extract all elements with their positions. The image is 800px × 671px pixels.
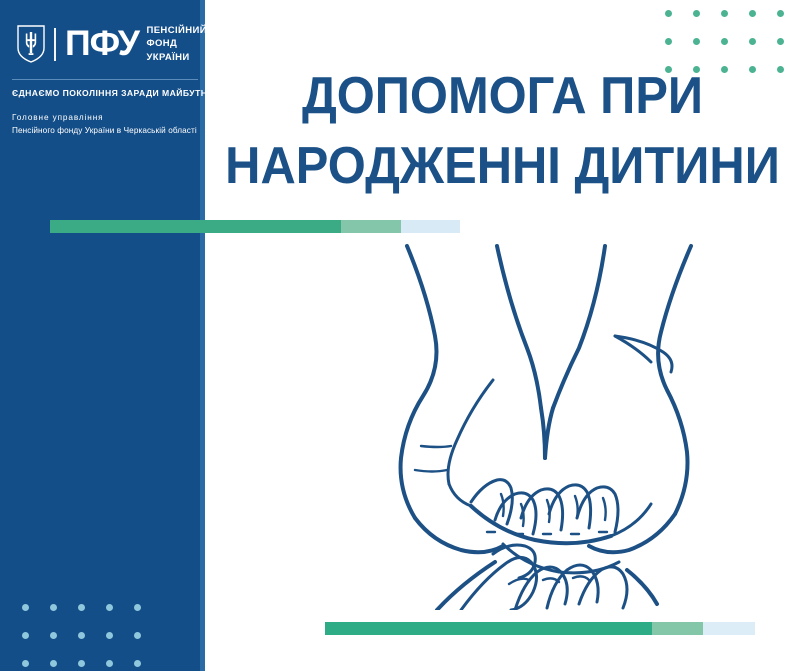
left-panel-edge [200, 0, 205, 671]
dot [777, 10, 784, 17]
pfu-full-name: ПЕНСІЙНИЙ ФОНД УКРАЇНИ [146, 24, 206, 63]
dot [50, 604, 57, 611]
dot-grid-bottom-left [22, 604, 162, 671]
pfu-name-line-2: ФОНД [146, 38, 177, 49]
dot [693, 38, 700, 45]
dot [78, 604, 85, 611]
dot [721, 66, 728, 73]
pfu-abbreviation: ПФУ [65, 27, 139, 60]
pfu-name-line-3: УКРАЇНИ [146, 52, 189, 63]
dot [106, 632, 113, 639]
dot [749, 10, 756, 17]
dot [777, 66, 784, 73]
dot [78, 660, 85, 667]
dot [721, 10, 728, 17]
logo-row: ПФУ ПЕНСІЙНИЙ ФОНД УКРАЇНИ [16, 24, 196, 64]
dot [50, 632, 57, 639]
poster-canvas: ПФУ ПЕНСІЙНИЙ ФОНД УКРАЇНИ ЄДНАЄМО ПОКОЛ… [0, 0, 800, 671]
accent-bar-bottom-segment-2 [652, 622, 704, 635]
brand-tagline: ЄДНАЄМО ПОКОЛІННЯ ЗАРАДИ МАЙБУТНЬОГО [12, 88, 207, 98]
dot [22, 604, 29, 611]
accent-bar-bottom [325, 622, 755, 635]
dot [665, 38, 672, 45]
left-brand-panel [0, 0, 205, 671]
dot [134, 660, 141, 667]
logo-divider [54, 28, 56, 61]
pfu-logo-lockup: ПФУ ПЕНСІЙНИЙ ФОНД УКРАЇНИ [16, 24, 196, 64]
dot [134, 632, 141, 639]
dot [106, 660, 113, 667]
accent-bar-bottom-segment-1 [325, 622, 652, 635]
dot [106, 604, 113, 611]
department-name: Головне управління Пенсійного фонду Укра… [12, 112, 207, 137]
dot [134, 604, 141, 611]
accent-bar-top-segment-1 [50, 220, 341, 233]
dot-grid-top-right [665, 10, 800, 94]
dot [749, 38, 756, 45]
pfu-name-line-1: ПЕНСІЙНИЙ [146, 25, 206, 36]
department-line-2: Пенсійного фонду України в Черкаській об… [12, 125, 207, 138]
accent-bar-bottom-segment-3 [703, 622, 755, 635]
ukraine-trident-coat-of-arms-icon [16, 24, 46, 64]
dot [665, 66, 672, 73]
logo-separator-rule [12, 79, 198, 80]
dot [22, 660, 29, 667]
dot [693, 10, 700, 17]
department-line-1: Головне управління [12, 112, 207, 125]
dot [665, 10, 672, 17]
dot [78, 632, 85, 639]
dot [721, 38, 728, 45]
page-title-line-2: НАРОДЖЕННІ ДИТИНИ [223, 132, 782, 202]
cupped-hands-line-art-icon [375, 232, 715, 610]
dot [749, 66, 756, 73]
dot [22, 632, 29, 639]
dot [777, 38, 784, 45]
dot [693, 66, 700, 73]
dot [50, 660, 57, 667]
